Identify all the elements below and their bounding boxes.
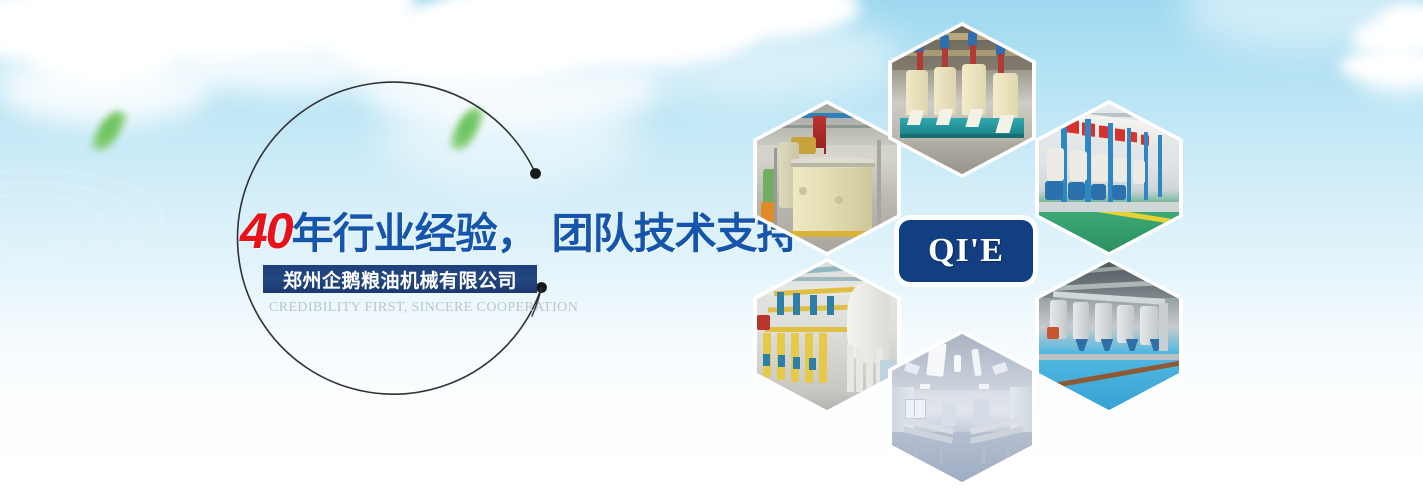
cloud-wisp — [1180, 0, 1420, 50]
photo-grain-milling-plant — [757, 262, 897, 410]
cloud — [1378, 2, 1423, 42]
cloud — [1340, 48, 1423, 84]
qie-logo-text: QI'E — [928, 232, 1004, 270]
headline-part-one: 年行业经验， — [292, 210, 538, 257]
water-ring — [0, 170, 162, 262]
water-ring — [0, 182, 132, 256]
hex-photo-right-bottom[interactable] — [1035, 258, 1183, 414]
cloud — [420, 0, 670, 68]
cloud-soft — [1360, 60, 1423, 94]
photo-clean-room-packaging — [892, 334, 1032, 482]
company-name-band: 郑州企鹅粮油机械有限公司 — [263, 265, 537, 293]
hex-photo-clip — [892, 334, 1032, 482]
cloud — [80, 0, 250, 48]
headline-number: 40 — [240, 203, 292, 259]
hex-photo-clip — [757, 104, 897, 252]
cloud — [330, 4, 590, 82]
cloud — [30, 20, 180, 82]
hex-photo-clip — [892, 26, 1032, 174]
cloud — [215, 0, 415, 40]
dot-top-icon — [530, 168, 541, 179]
bottom-haze — [0, 270, 1423, 500]
promo-banner: 40年行业经验，团队技术支持 郑州企鹅粮油机械有限公司 CREDIBILITY … — [0, 0, 1423, 500]
hex-photo-clip — [757, 262, 897, 410]
cloud — [640, 0, 860, 38]
company-tagline: CREDIBILITY FIRST, SINCERE COOPERATION — [269, 300, 531, 316]
cloud-wisp — [600, 10, 900, 100]
hex-photo-left-bottom[interactable] — [753, 258, 901, 414]
cloud — [0, 0, 150, 62]
water-ring — [0, 194, 102, 250]
hex-photo-clip — [1039, 262, 1179, 410]
leaf-left-icon — [88, 106, 129, 157]
headline: 40年行业经验，团队技术支持 — [240, 206, 798, 256]
photo-oil-extraction-tanks — [757, 104, 897, 252]
hex-photo-top-center[interactable] — [888, 22, 1036, 178]
cloud-soft — [0, 55, 210, 125]
photo-stainless-processing-line — [1039, 262, 1179, 410]
cloud-wisp — [0, 0, 240, 100]
photo-production-hall-safety-banner — [1039, 104, 1179, 252]
cloud — [1352, 18, 1423, 58]
hex-photo-clip — [1039, 104, 1179, 252]
cloud — [135, 5, 265, 57]
photo-hopper-conveyor-line — [892, 26, 1032, 174]
qie-logo-badge[interactable]: QI'E — [899, 220, 1033, 282]
banner-char — [1066, 119, 1079, 134]
cloud — [530, 0, 760, 66]
hex-photo-bottom-center[interactable] — [888, 330, 1036, 486]
cloud — [150, 0, 380, 54]
company-name: 郑州企鹅粮油机械有限公司 — [283, 266, 517, 293]
hex-photo-right-top[interactable] — [1035, 100, 1183, 256]
